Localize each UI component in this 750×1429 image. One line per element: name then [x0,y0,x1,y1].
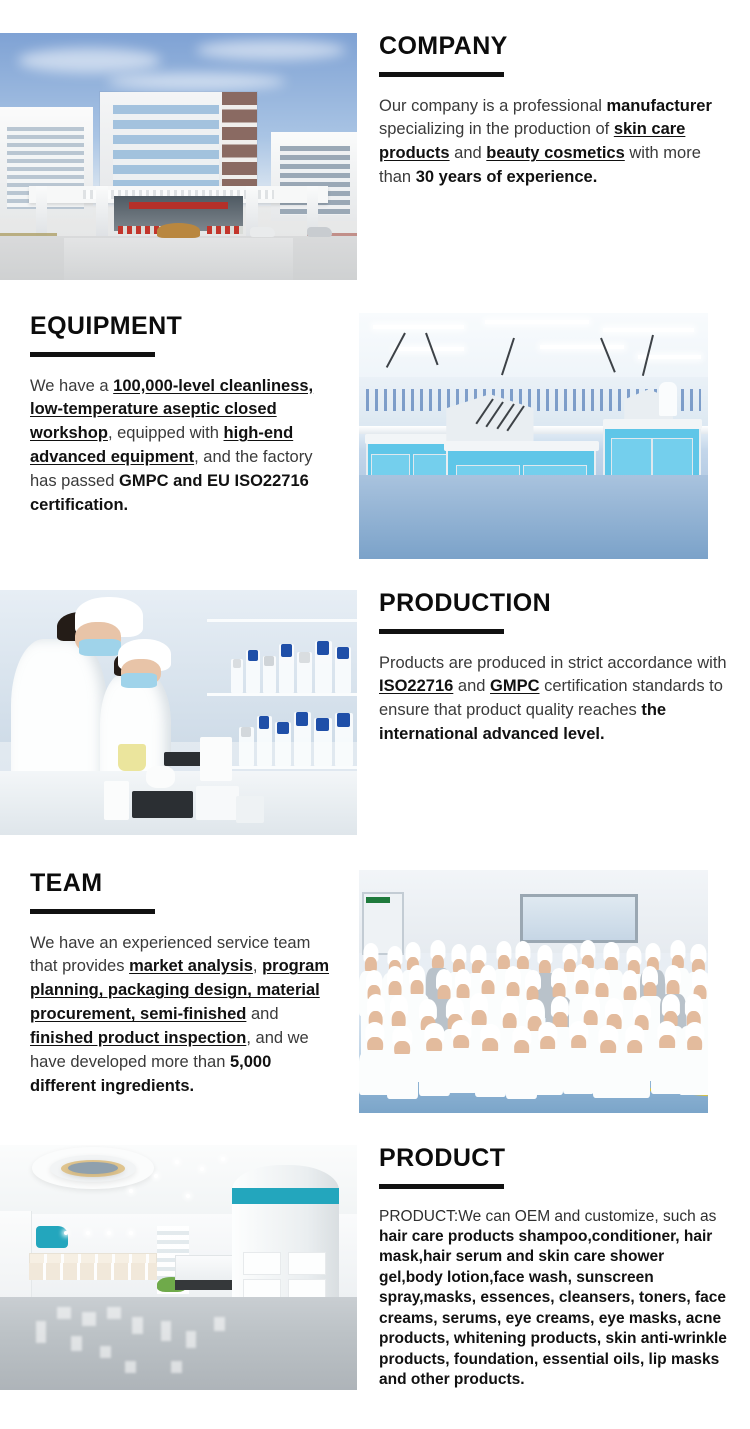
team-member [619,1025,650,1098]
heading-rule-team [30,909,155,914]
team-member [475,1024,506,1097]
team-member [679,1022,708,1095]
company-image-column [0,33,357,280]
production-image-column [0,590,357,835]
section-team: TEAM We have an experienced service team… [0,870,750,1113]
team-member [532,1022,563,1095]
team-member [387,1026,418,1099]
team-group-photo [359,870,708,1113]
production-paragraph: Products are produced in strict accordan… [379,652,728,748]
company-building-photo [0,33,357,280]
equipment-image-column [359,313,708,559]
page-title-product: PRODUCT [379,1145,728,1173]
product-showroom-photo [0,1145,357,1390]
team-member [563,1021,594,1094]
section-company: COMPANY Our company is a professional ma… [0,33,750,280]
equipment-text-column: EQUIPMENT We have a 100,000-level cleanl… [0,313,359,559]
product-image-column [0,1145,357,1390]
product-paragraph: PRODUCT:We can OEM and customize, such a… [379,1207,728,1391]
heading-rule-company [379,72,504,77]
production-technicians-photo [0,590,357,835]
page-title-equipment: EQUIPMENT [30,313,341,341]
team-member [651,1021,682,1094]
heading-rule-equipment [30,352,155,357]
section-production: PRODUCTION Products are produced in stri… [0,590,750,835]
product-text-column: PRODUCT PRODUCT:We can OEM and customize… [357,1145,750,1390]
page-title-production: PRODUCTION [379,590,728,618]
team-text-column: TEAM We have an experienced service team… [0,870,359,1113]
equipment-paragraph: We have a 100,000-level cleanliness, low… [30,375,341,519]
section-equipment: EQUIPMENT We have a 100,000-level cleanl… [0,313,750,559]
team-image-column [359,870,708,1113]
heading-rule-production [379,629,504,634]
production-text-column: PRODUCTION Products are produced in stri… [357,590,750,835]
section-product: PRODUCT PRODUCT:We can OEM and customize… [0,1145,750,1390]
laboratory-equipment-photo [359,313,708,559]
team-paragraph: We have an experienced service team that… [30,932,341,1099]
team-member [445,1020,476,1093]
page-title-company: COMPANY [379,33,728,61]
company-paragraph: Our company is a professional manufactur… [379,95,728,191]
page-title-team: TEAM [30,870,341,898]
heading-rule-product [379,1184,504,1189]
company-profile-page: COMPANY Our company is a professional ma… [0,0,750,1429]
company-text-column: COMPANY Our company is a professional ma… [357,33,750,280]
